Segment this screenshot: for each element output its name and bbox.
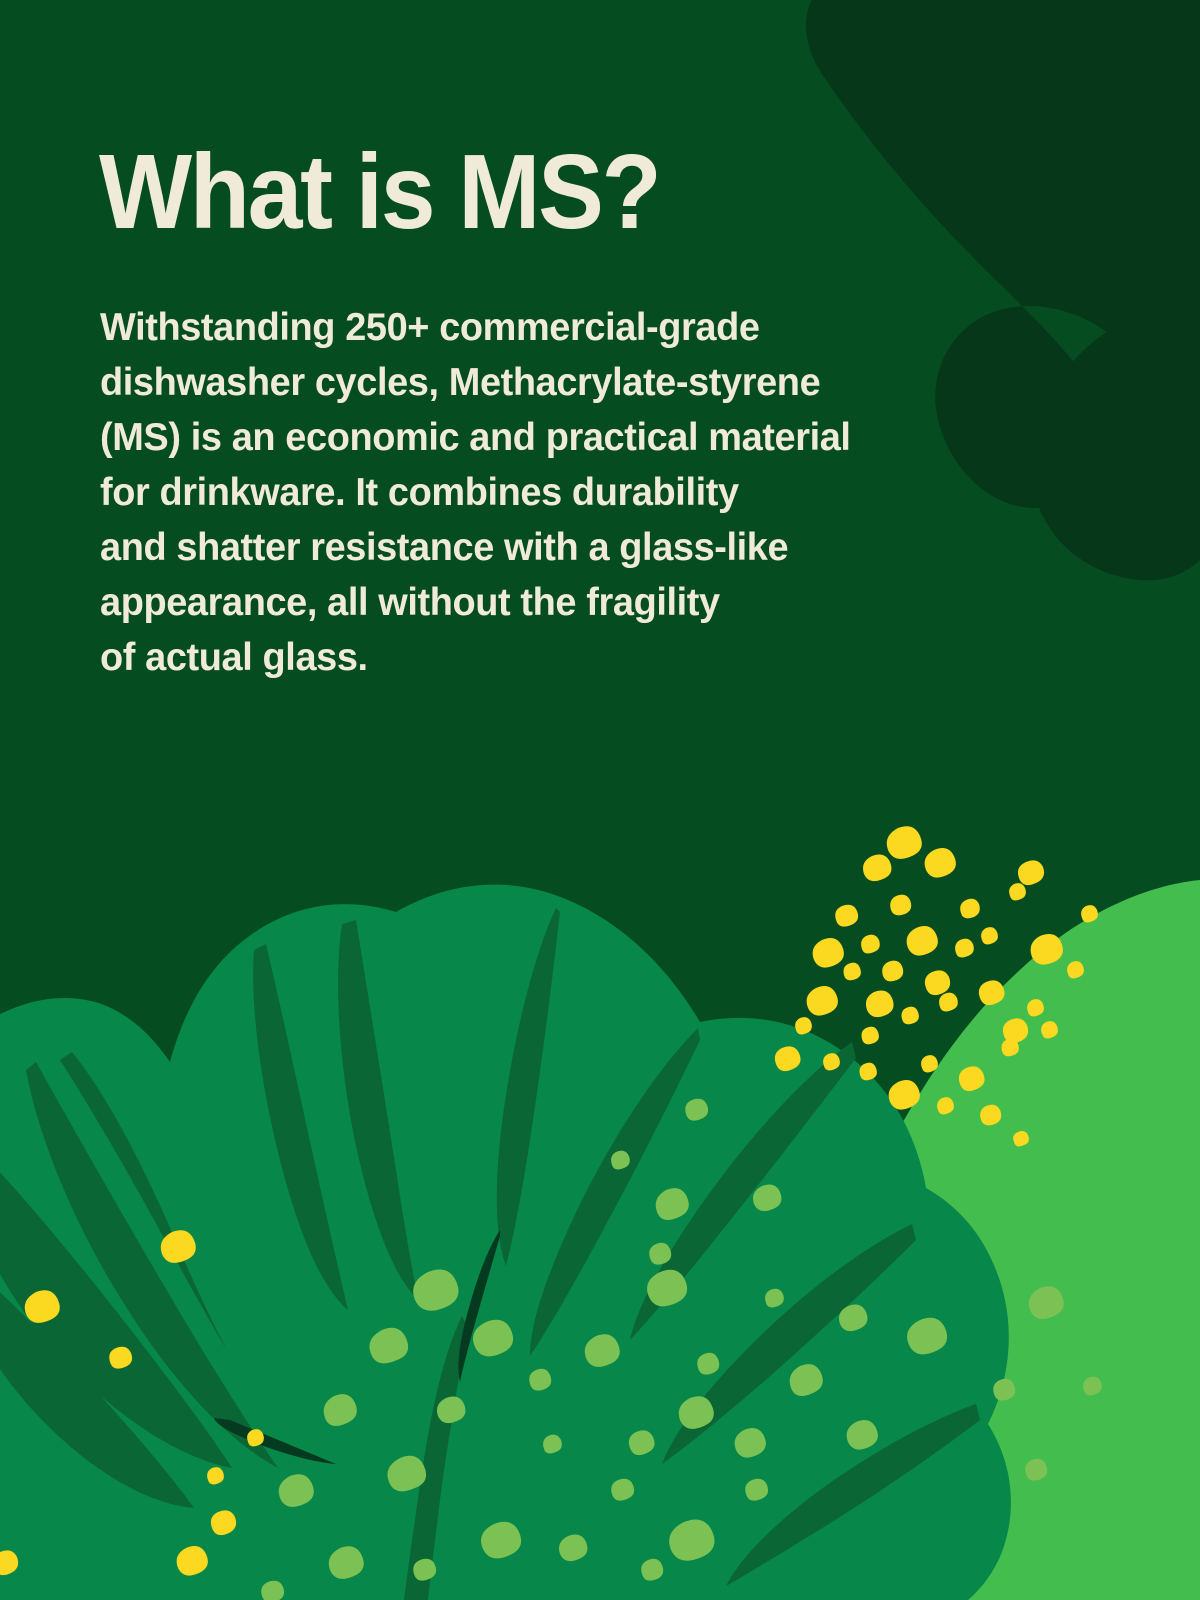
body-line: Withstanding 250+ commercial-grade	[100, 300, 1095, 355]
body-line: and shatter resistance with a glass-like	[100, 520, 1095, 575]
poster-canvas: What is MS? Withstanding 250+ commercial…	[0, 0, 1200, 1600]
body-line: dishwasher cycles, Methacrylate-styrene	[100, 355, 1095, 410]
body-line: appearance, all without the fragility	[100, 575, 1095, 630]
body-line: (MS) is an economic and practical materi…	[100, 410, 1095, 465]
body-line: of actual glass.	[100, 630, 1095, 685]
page-title: What is MS?	[99, 139, 936, 245]
body-paragraph: Withstanding 250+ commercial-grade dishw…	[100, 300, 1095, 685]
body-line: for drinkware. It combines durability	[100, 465, 1095, 520]
